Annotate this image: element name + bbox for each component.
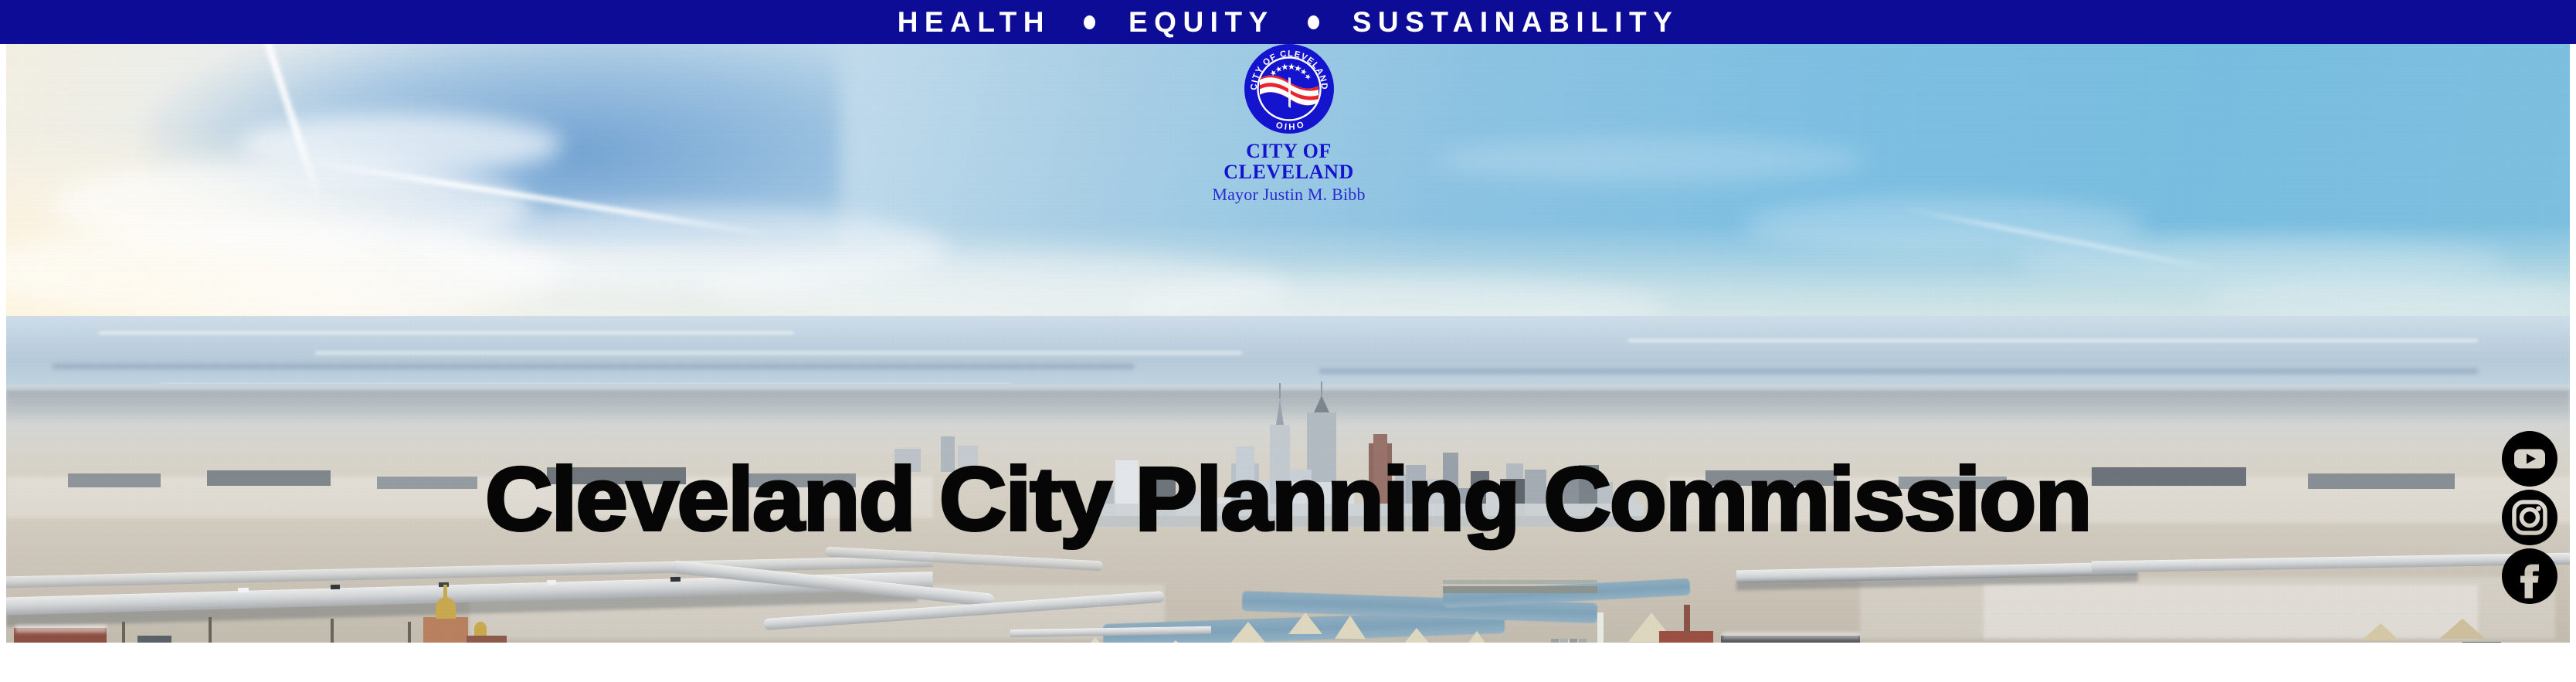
lake-streak xyxy=(315,351,1242,355)
terminal-tower-spire xyxy=(1276,399,1284,425)
vehicle xyxy=(238,588,249,592)
banner-root: HEALTH EQUITY SUSTAINABILITY xyxy=(0,0,2576,682)
city-of-cleveland-seal-icon: CITY OF CLEVELAND OHIO xyxy=(1244,43,1335,134)
tagline-word-health: HEALTH xyxy=(898,8,1050,36)
bare-tree xyxy=(122,622,125,643)
logo-mayor-name: Mayor Justin M. Bibb xyxy=(1183,185,1395,204)
page-title: Cleveland City Planning Commission xyxy=(0,454,2576,544)
city-logo-lockup[interactable]: CITY OF CLEVELAND OHIO xyxy=(1183,43,1395,204)
truss-bridge xyxy=(1443,586,1597,593)
cloud xyxy=(238,114,562,175)
lake-shadow xyxy=(53,364,1134,369)
youtube-link[interactable] xyxy=(2500,429,2559,488)
aggregate-pile xyxy=(2439,619,2486,639)
truss-bridge xyxy=(1443,580,1597,584)
vehicle xyxy=(547,580,556,585)
church-steeple xyxy=(443,585,447,599)
house xyxy=(137,636,171,643)
aggregate-pile xyxy=(1335,616,1366,639)
snow-roof xyxy=(1722,633,1860,639)
bottom-margin xyxy=(0,643,2576,682)
lake-streak xyxy=(99,331,794,334)
left-margin xyxy=(0,44,6,643)
church-golden-dome xyxy=(436,597,456,619)
tagline-word-equity: EQUITY xyxy=(1128,8,1274,36)
aggregate-pile xyxy=(1397,628,1437,643)
tagline-bar: HEALTH EQUITY SUSTAINABILITY xyxy=(0,0,2576,44)
smokestack xyxy=(1597,612,1604,643)
key-tower-pyramid xyxy=(1314,395,1329,412)
lake-streak xyxy=(1628,339,2478,342)
smokestack xyxy=(1684,605,1690,636)
church-golden-dome xyxy=(474,622,487,636)
bare-tree xyxy=(331,619,334,643)
aggregate-pile xyxy=(2362,623,2399,640)
cloud xyxy=(2208,276,2570,318)
bullet-dot-icon xyxy=(1084,15,1095,29)
church-building xyxy=(423,617,468,643)
terminal-tower-antenna xyxy=(1279,383,1281,399)
cloud xyxy=(1435,137,1868,183)
bullet-dot-icon xyxy=(1308,15,1319,29)
aggregate-pile xyxy=(1288,612,1322,634)
vehicle xyxy=(670,577,680,582)
aggregate-pile xyxy=(1458,631,1495,643)
bare-tree xyxy=(408,622,411,643)
church-annex xyxy=(467,636,507,643)
social-links xyxy=(2500,429,2561,606)
facebook-link[interactable] xyxy=(2500,547,2559,606)
lake-shadow xyxy=(1319,368,2478,374)
tagline-word-sustainability: SUSTAINABILITY xyxy=(1352,8,1679,36)
bare-tree xyxy=(209,617,212,643)
logo-city-name: CITY OF CLEVELAND xyxy=(1183,141,1395,183)
snow-field xyxy=(1984,585,2478,639)
instagram-link[interactable] xyxy=(2500,488,2559,547)
aggregate-pile xyxy=(1072,637,1118,643)
key-tower-antenna xyxy=(1321,382,1322,395)
aggregate-pile xyxy=(1227,622,1270,643)
vehicle xyxy=(331,585,340,589)
snow-roof xyxy=(15,625,107,633)
right-margin xyxy=(2570,44,2576,643)
